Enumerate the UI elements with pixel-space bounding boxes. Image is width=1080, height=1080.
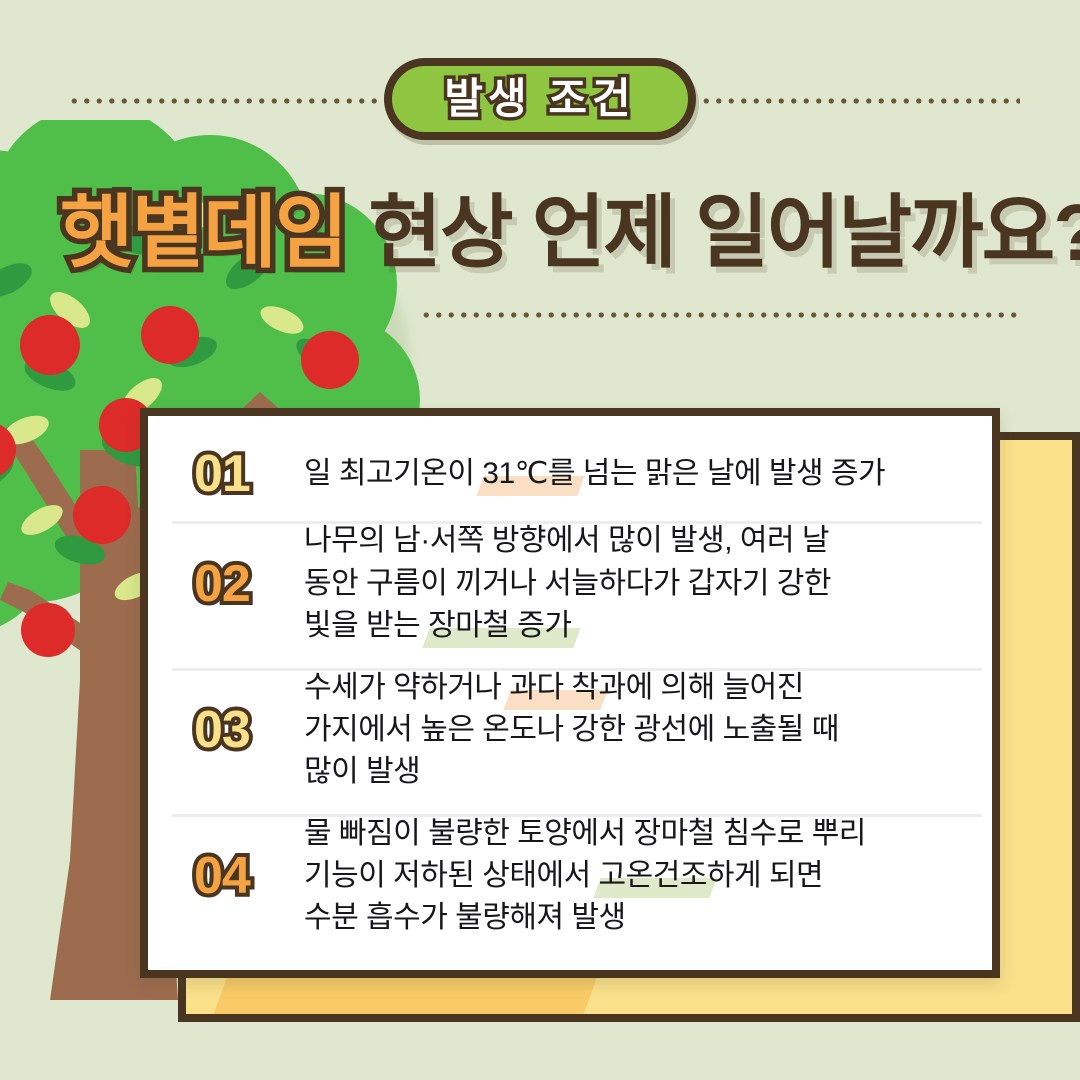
condition-item: 03수세가 약하거나 과다 착과에 의해 늘어진가지에서 높은 온도나 강한 광… <box>148 668 992 793</box>
phrase-text: 기능이 저하된 상태에서 <box>304 859 599 892</box>
highlighted-phrase-text: 장마철 증가 <box>428 609 571 642</box>
dotted-divider-top-right <box>700 98 1020 104</box>
phrase-text: 넘는 맑은 날에 발생 증가 <box>575 457 885 490</box>
condition-item-line: 빛을 받는 장마철 증가 <box>304 606 571 646</box>
page-title: 햇볕데임 현상 언제 일어날까요? <box>60 178 1050 288</box>
condition-item-number: 02 <box>194 558 304 610</box>
dotted-divider-middle <box>420 312 1020 318</box>
phrase-text: 수세가 약하거나 <box>304 671 509 704</box>
condition-item-number: 03 <box>194 704 304 756</box>
phrase-text: 가지에서 높은 온도나 강한 광선에 노출될 때 <box>304 713 839 746</box>
condition-item: 02나무의 남·서쪽 방향에서 많이 발생, 여러 날동안 구름이 끼거나 서늘… <box>148 521 992 646</box>
phrase-text: 물 빠짐이 불량한 토양에서 장마철 침수로 뿌리 <box>304 817 866 850</box>
condition-item-line: 기능이 저하된 상태에서 고온건조하게 되면 <box>304 856 823 896</box>
phrase-text: 과에 의해 늘어진 <box>599 671 804 704</box>
conditions-card: 01일 최고기온이 31℃를 넘는 맑은 날에 발생 증가02나무의 남·서쪽 … <box>140 408 1000 978</box>
highlighted-phrase: 31℃를 <box>482 454 575 494</box>
highlighted-phrase: 과다 착 <box>509 668 598 708</box>
condition-item: 01일 최고기온이 31℃를 넘는 맑은 날에 발생 증가 <box>148 448 992 500</box>
condition-item-line: 가지에서 높은 온도나 강한 광선에 노출될 때 <box>304 710 839 750</box>
highlighted-phrase: 고온건조 <box>599 856 707 896</box>
highlighted-phrase: 장마철 증가 <box>428 606 571 646</box>
section-badge-label: 발생 조건 <box>444 78 635 120</box>
condition-item: 04물 빠짐이 불량한 토양에서 장마철 침수로 뿌리기능이 저하된 상태에서 … <box>148 814 992 939</box>
phrase-text: 빛을 받는 <box>304 609 428 642</box>
condition-item-text: 수세가 약하거나 과다 착과에 의해 늘어진가지에서 높은 온도나 강한 광선에… <box>304 668 968 793</box>
highlighted-phrase-text: 과다 착 <box>509 671 598 704</box>
condition-item-text: 나무의 남·서쪽 방향에서 많이 발생, 여러 날동안 구름이 끼거나 서늘하다… <box>304 521 968 646</box>
phrase-text: 나무의 남·서쪽 방향에서 많이 발생, 여러 날 <box>304 524 829 557</box>
highlighted-phrase-text: 31℃를 <box>482 457 575 490</box>
page-title-main: 현상 언제 일어날까요? <box>368 193 1080 273</box>
phrase-text: 수분 흡수가 불량해져 발생 <box>304 901 626 934</box>
condition-item-text: 일 최고기온이 31℃를 넘는 맑은 날에 발생 증가 <box>304 454 968 494</box>
condition-item-number: 04 <box>194 850 304 902</box>
condition-item-number: 01 <box>194 448 304 500</box>
section-badge: 발생 조건 <box>384 58 696 140</box>
phrase-text: 많이 발생 <box>304 755 420 788</box>
condition-item-line: 물 빠짐이 불량한 토양에서 장마철 침수로 뿌리 <box>304 814 866 854</box>
condition-item-line: 나무의 남·서쪽 방향에서 많이 발생, 여러 날 <box>304 521 829 561</box>
phrase-text: 하게 되면 <box>707 859 823 892</box>
infographic-poster: 발생 조건 햇볕데임 현상 언제 일어날까요? 01일 최고기온이 31℃를 넘… <box>0 0 1080 1080</box>
condition-item-text: 물 빠짐이 불량한 토양에서 장마철 침수로 뿌리기능이 저하된 상태에서 고온… <box>304 814 968 939</box>
condition-item-line: 일 최고기온이 31℃를 넘는 맑은 날에 발생 증가 <box>304 454 885 494</box>
condition-item-line: 동안 구름이 끼거나 서늘하다가 갑자기 강한 <box>304 564 831 604</box>
dotted-divider-top-left <box>68 98 388 104</box>
phrase-text: 일 최고기온이 <box>304 457 482 490</box>
condition-item-line: 많이 발생 <box>304 752 420 792</box>
condition-item-line: 수세가 약하거나 과다 착과에 의해 늘어진 <box>304 668 804 708</box>
phrase-text: 동안 구름이 끼거나 서늘하다가 갑자기 강한 <box>304 567 831 600</box>
page-title-accent: 햇볕데임 <box>60 193 346 273</box>
highlighted-phrase-text: 고온건조 <box>599 859 707 892</box>
condition-item-line: 수분 흡수가 불량해져 발생 <box>304 898 626 938</box>
